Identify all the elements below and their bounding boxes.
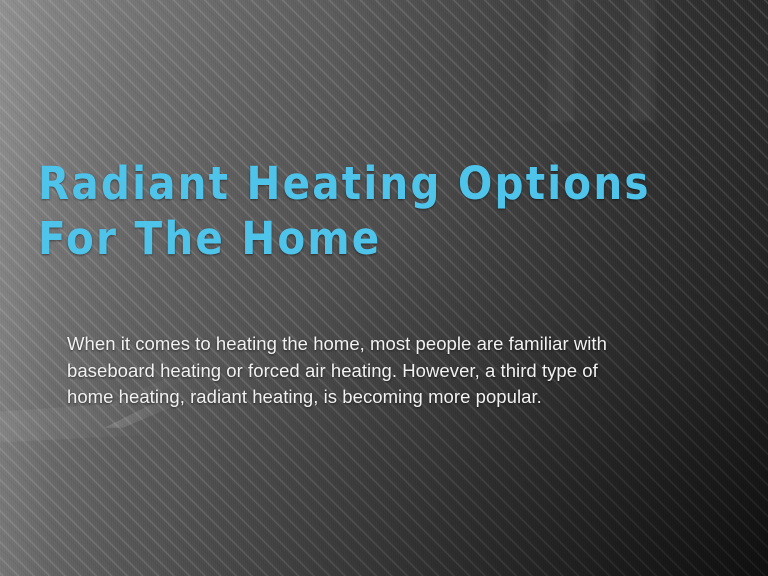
slide-content: Radiant Heating Options For The Home Whe… [0,0,768,576]
slide-title: Radiant Heating Options For The Home [38,156,698,266]
presentation-slide: Radiant Heating Options For The Home Whe… [0,0,768,576]
slide-body-text: When it comes to heating the home, most … [67,331,637,411]
